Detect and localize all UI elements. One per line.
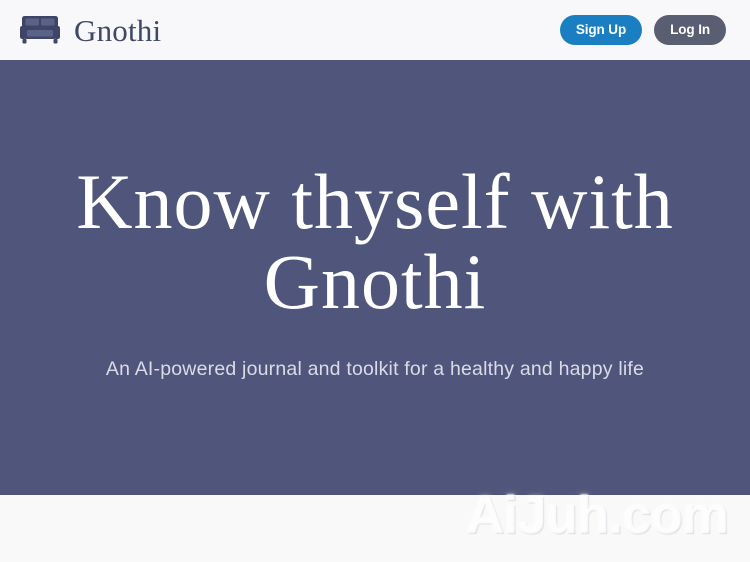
hero-content: Know thyself with Gnothi An AI-powered j… bbox=[0, 60, 750, 382]
sign-up-button[interactable]: Sign Up bbox=[560, 15, 642, 45]
page-body-area bbox=[0, 495, 750, 562]
brand-logo-link[interactable]: Gnothi bbox=[18, 13, 161, 47]
hero-section: Know thyself with Gnothi An AI-powered j… bbox=[0, 60, 750, 495]
header-actions: Sign Up Log In bbox=[560, 15, 726, 45]
brand-name: Gnothi bbox=[74, 15, 161, 46]
log-in-button[interactable]: Log In bbox=[654, 15, 726, 45]
couch-icon bbox=[18, 13, 62, 47]
hero-subtitle: An AI-powered journal and toolkit for a … bbox=[0, 356, 750, 382]
hero-title: Know thyself with Gnothi bbox=[0, 162, 750, 322]
site-header: Gnothi Sign Up Log In bbox=[0, 0, 750, 60]
